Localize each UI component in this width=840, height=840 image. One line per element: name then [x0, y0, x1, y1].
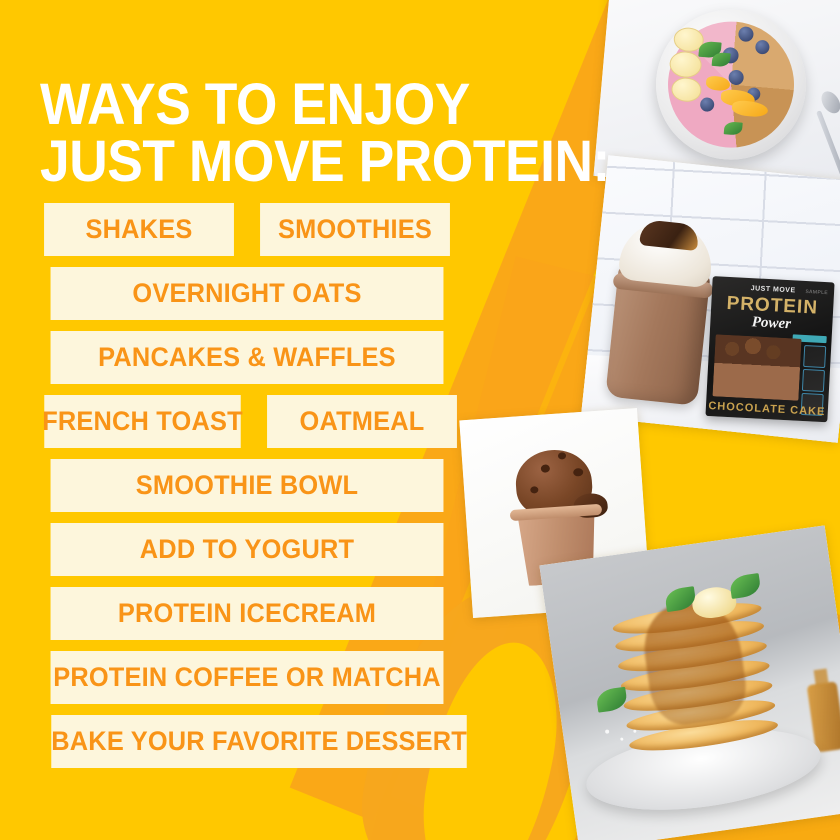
- protein-sachet: JUST MOVE SAMPLE PROTEIN Power CHOCOLATE…: [705, 276, 834, 422]
- list-item-overnight-oats: OVERNIGHT OATS: [51, 267, 444, 320]
- pancakes-photo: [539, 525, 840, 840]
- list-row: PANCAKES & WAFFLES: [38, 331, 456, 384]
- list-item-protein-coffee-or-matcha: PROTEIN COFFEE OR MATCHA: [51, 651, 444, 704]
- page-title-line-2: JUST MOVE PROTEIN:: [40, 134, 610, 191]
- usage-list: SHAKES SMOOTHIES OVERNIGHT OATS PANCAKES…: [38, 203, 456, 768]
- protein-shake-photo: JUST MOVE SAMPLE PROTEIN Power CHOCOLATE…: [581, 155, 840, 443]
- list-row: SHAKES SMOOTHIES: [38, 203, 456, 256]
- syrup-bottle-neck: [814, 668, 829, 686]
- list-item-bake-your-favorite-dessert: BAKE YOUR FAVORITE DESSERT: [51, 715, 467, 768]
- list-row: PROTEIN ICECREAM: [38, 587, 456, 640]
- list-row: PROTEIN COFFEE OR MATCHA: [38, 651, 456, 704]
- list-item-protein-icecream: PROTEIN ICECREAM: [51, 587, 444, 640]
- list-item-pancakes-waffles: PANCAKES & WAFFLES: [51, 331, 444, 384]
- list-item-add-to-yogurt: ADD TO YOGURT: [51, 523, 444, 576]
- list-item-oatmeal: OATMEAL: [267, 395, 457, 448]
- sachet-sample-label: SAMPLE: [805, 289, 828, 296]
- sachet-icon-badge-2: [802, 369, 825, 392]
- list-row: BAKE YOUR FAVORITE DESSERT: [38, 715, 456, 768]
- list-item-french-toast: FRENCH TOAST: [44, 395, 240, 448]
- list-row: ADD TO YOGURT: [38, 523, 456, 576]
- list-row: OVERNIGHT OATS: [38, 267, 456, 320]
- sachet-icon-badge-1: [803, 345, 826, 368]
- poster-canvas: WAYS TO ENJOY JUST MOVE PROTEIN: SHAKES …: [0, 0, 840, 840]
- sachet-cake-image: [712, 334, 801, 400]
- page-title: WAYS TO ENJOY JUST MOVE PROTEIN:: [40, 77, 610, 191]
- list-row: SMOOTHIE BOWL: [38, 459, 456, 512]
- list-item-smoothies: SMOOTHIES: [260, 203, 450, 256]
- list-item-shakes: SHAKES: [44, 203, 234, 256]
- list-item-smoothie-bowl: SMOOTHIE BOWL: [51, 459, 444, 512]
- list-row: FRENCH TOAST OATMEAL: [38, 395, 456, 448]
- page-title-line-1: WAYS TO ENJOY: [40, 77, 610, 134]
